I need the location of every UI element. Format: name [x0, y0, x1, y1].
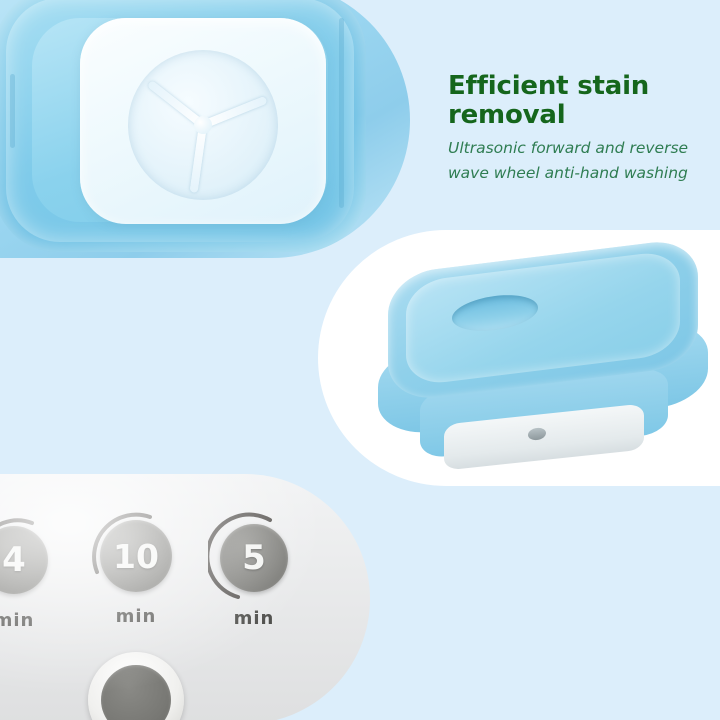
section-timing: 4 min 10 min	[0, 478, 720, 720]
pulsator-blade	[190, 125, 207, 193]
text-block-stain-removal: Efficient stain removal Ultrasonic forwa…	[448, 72, 710, 186]
timer-button-disc: 10	[100, 520, 172, 592]
washer-tub	[0, 0, 366, 252]
body-stain-removal: Ultrasonic forward and reverse wave whee…	[448, 136, 710, 186]
power-button[interactable]	[88, 652, 184, 720]
timer-unit-4: min	[0, 610, 60, 631]
photo-folded-washing-machine	[318, 230, 720, 486]
timer-unit-5: min	[208, 608, 300, 629]
washer-seam-right	[339, 18, 344, 208]
control-panel: 4 min 10 min	[0, 474, 370, 720]
photo-washing-machine-top-view	[0, 0, 410, 258]
folded-washer	[378, 252, 708, 464]
product-infographic: Efficient stain removal Ultrasonic forwa…	[0, 0, 720, 720]
folded-washer-lid-inner	[406, 249, 680, 387]
heading-stain-removal: Efficient stain removal	[448, 72, 710, 130]
power-button-inner	[101, 665, 171, 720]
timer-button-disc: 5	[220, 524, 288, 592]
section-foldable: Foldable Travel, easy to put into the su…	[0, 238, 720, 478]
timer-value-4: 4	[2, 543, 26, 577]
timer-button-5min[interactable]: 5 min	[208, 512, 300, 604]
timer-button-4min[interactable]: 4 min	[0, 514, 60, 606]
timer-unit-10: min	[90, 606, 182, 627]
timer-value-5: 5	[242, 541, 266, 575]
pulsator-wheel	[128, 50, 278, 200]
timer-value-10: 10	[113, 540, 159, 573]
timer-button-10min[interactable]: 10 min	[90, 510, 182, 602]
washer-seam-left	[10, 74, 15, 148]
section-stain-removal: Efficient stain removal Ultrasonic forwa…	[0, 0, 720, 238]
washer-inner-lid	[80, 18, 326, 224]
pulsator-hub	[194, 116, 212, 134]
photo-control-panel: 4 min 10 min	[0, 474, 370, 720]
